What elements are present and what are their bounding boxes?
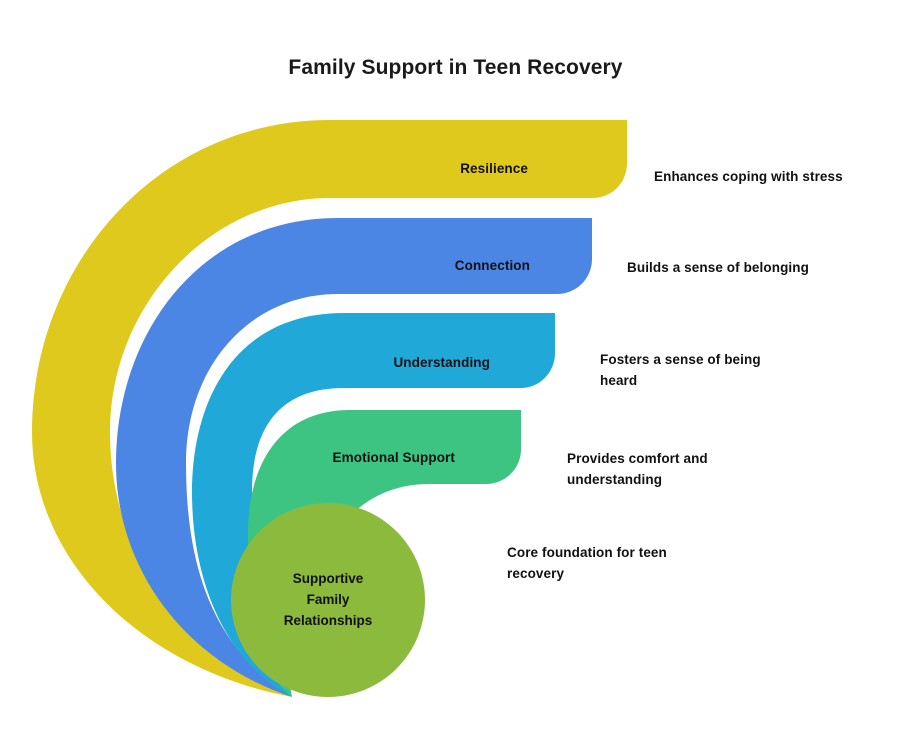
core-label-line-3: Relationships bbox=[233, 611, 423, 632]
band-description-resilience: Enhances coping with stress bbox=[654, 167, 894, 188]
band-label-resilience: Resilience bbox=[460, 161, 528, 176]
core-label: Supportive Family Relationships bbox=[233, 569, 423, 632]
band-description-understanding: Fosters a sense of being heard bbox=[600, 350, 800, 392]
core-description: Core foundation for teen recovery bbox=[507, 543, 707, 585]
band-label-understanding: Understanding bbox=[393, 355, 490, 370]
band-label-connection: Connection bbox=[455, 258, 530, 273]
core-label-line-1: Supportive bbox=[233, 569, 423, 590]
band-description-emotional-support: Provides comfort and understanding bbox=[567, 449, 752, 491]
core-label-line-2: Family bbox=[233, 590, 423, 611]
band-label-emotional-support: Emotional Support bbox=[333, 450, 455, 465]
infographic-root: Family Support in Teen Recovery Resilien… bbox=[0, 0, 911, 756]
band-description-connection: Builds a sense of belonging bbox=[627, 258, 872, 279]
